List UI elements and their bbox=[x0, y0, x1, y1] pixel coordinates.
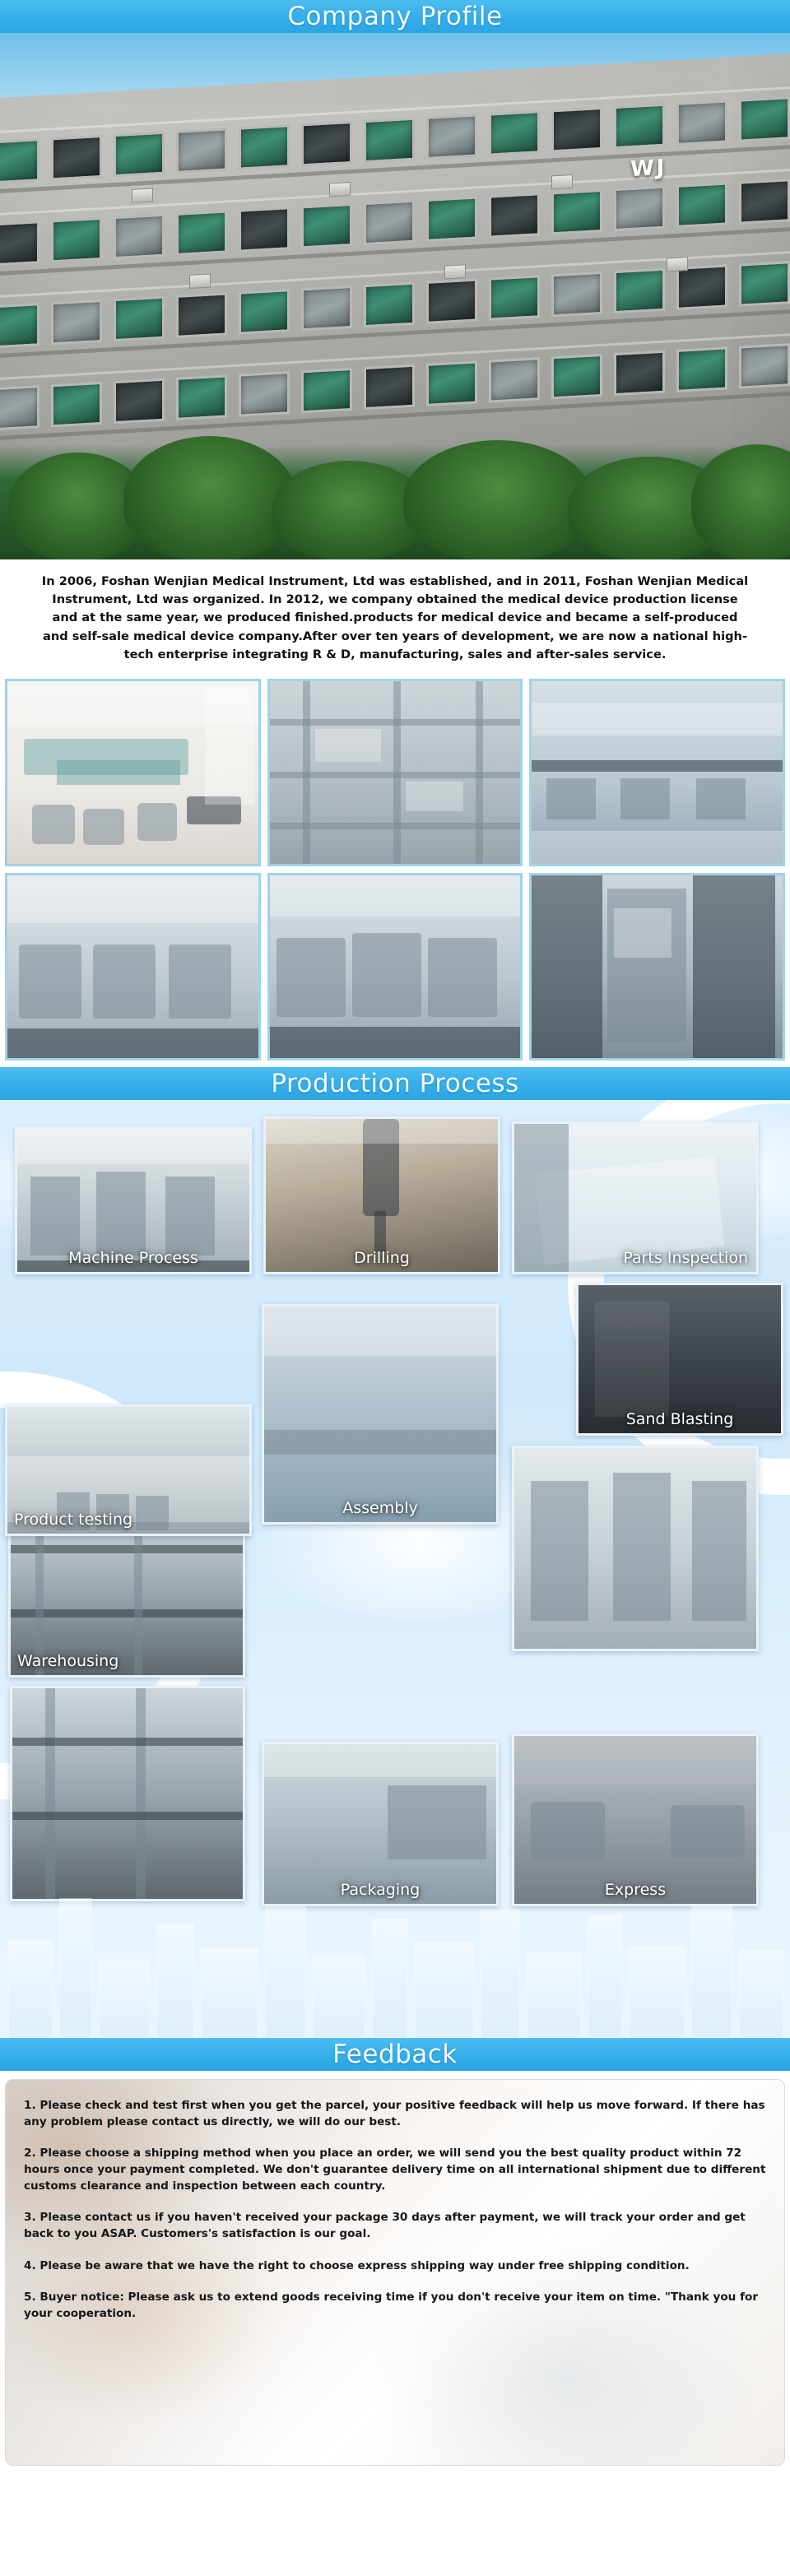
facility-photo-grid: Office reception area with company cultu… bbox=[0, 675, 790, 1067]
factory-building-photo: WJ bbox=[0, 33, 790, 559]
process-image-assembly: Assembly bbox=[262, 1304, 499, 1525]
feedback-item: 3. Please contact us if you haven't rece… bbox=[24, 2210, 766, 2242]
process-label-machine-process: Machine Process bbox=[68, 1249, 198, 1267]
company-profile-banner: Company Profile bbox=[0, 0, 790, 33]
production-process-title: Production Process bbox=[271, 1069, 518, 1098]
photo-assembly-workshop: Assembly workshop benches bbox=[529, 679, 785, 866]
process-label-product-testing: Product testing bbox=[14, 1511, 132, 1529]
production-process-flow: Machine Process Drilling Parts Inspectio… bbox=[0, 1100, 790, 2038]
process-label-sand-blasting: Sand Blasting bbox=[626, 1410, 734, 1428]
process-image-machine-process: Machine Process bbox=[15, 1126, 252, 1274]
process-image-drilling: Drilling bbox=[263, 1116, 500, 1274]
process-image-parts-inspection: Parts Inspection bbox=[512, 1121, 759, 1274]
feedback-title: Feedback bbox=[332, 2040, 458, 2069]
process-label-parts-inspection: Parts Inspection bbox=[623, 1249, 748, 1267]
photo-cnc-machine-room: CNC machine room bbox=[529, 873, 785, 1061]
company-profile-title: Company Profile bbox=[287, 2, 502, 31]
foreground-trees bbox=[0, 444, 790, 559]
process-label-drilling: Drilling bbox=[354, 1249, 410, 1267]
company-description: In 2006, Foshan Wenjian Medical Instrume… bbox=[0, 559, 790, 675]
feedback-section: 1. Please check and test first when you … bbox=[0, 2071, 790, 2477]
feedback-item: 5. Buyer notice: Please ask us to extend… bbox=[24, 2290, 766, 2322]
photo-parts-warehouse: Parts storage shelving bbox=[267, 679, 523, 866]
feedback-item-list: 1. Please check and test first when you … bbox=[24, 2098, 766, 2323]
photo-lathe-line: Automatic lathe production line bbox=[267, 873, 523, 1061]
feedback-card: 1. Please check and test first when you … bbox=[5, 2079, 785, 2466]
production-process-banner: Production Process bbox=[0, 1067, 790, 1100]
company-roof-sign: WJ bbox=[630, 155, 667, 182]
feedback-item: 2. Please choose a shipping method when … bbox=[24, 2146, 766, 2194]
process-image-production-line bbox=[512, 1446, 759, 1651]
feedback-item: 4. Please be aware that we have the righ… bbox=[24, 2258, 766, 2275]
skyline-decoration bbox=[0, 1865, 790, 2038]
process-label-warehousing: Warehousing bbox=[17, 1652, 118, 1670]
feedback-item: 1. Please check and test first when you … bbox=[24, 2098, 766, 2130]
photo-office-reception: Office reception area with company cultu… bbox=[5, 679, 261, 866]
process-image-product-testing: Product testing bbox=[5, 1404, 252, 1536]
photo-cnc-workshop: CNC machining workshop bbox=[5, 873, 261, 1061]
feedback-banner: Feedback bbox=[0, 2038, 790, 2071]
process-image-sand-blasting: Sand Blasting bbox=[576, 1283, 783, 1436]
process-label-assembly: Assembly bbox=[342, 1499, 418, 1517]
product-detail-page: Company Profile bbox=[0, 0, 790, 2477]
